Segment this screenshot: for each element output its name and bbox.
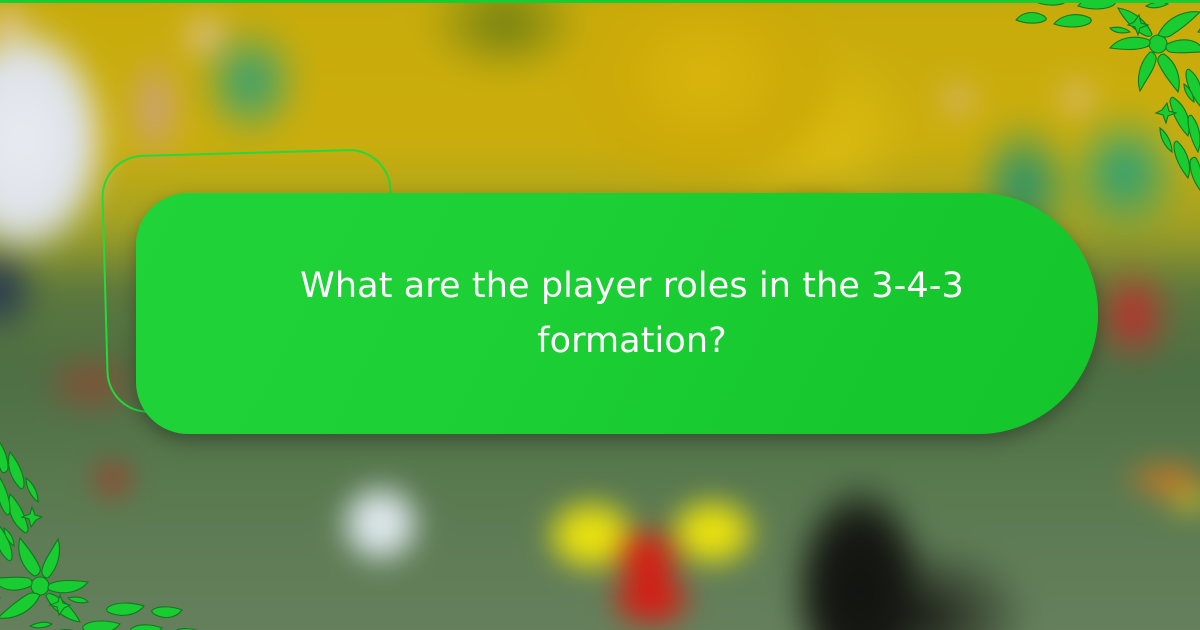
floral-corner-top-right-icon [994,0,1200,192]
screenshot-canvas: What are the player roles in the 3-4-3 f… [0,0,1200,630]
question-title: What are the player roles in the 3-4-3 f… [286,259,978,368]
floral-corner-bottom-left-icon [0,438,204,630]
top-accent-rule [0,0,1200,3]
question-card: What are the player roles in the 3-4-3 f… [136,193,1098,434]
